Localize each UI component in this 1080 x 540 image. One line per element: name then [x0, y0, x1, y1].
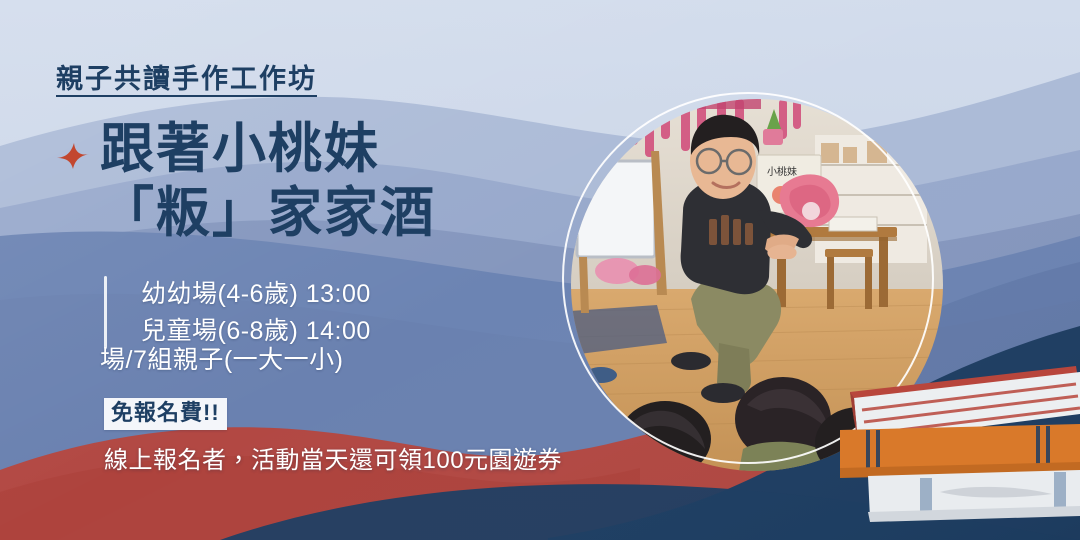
capacity-note: 場/7組親子(一大一小) [100, 340, 344, 376]
sparkle-star-icon [56, 140, 90, 170]
kicker-label: 親子共讀手作工作坊 [56, 66, 317, 93]
poster-canvas: 小桃妹 [0, 0, 1080, 540]
stacked-books-icon [840, 352, 1080, 540]
bonus-note: 線上報名者，活動當天還可領100元園遊券 [104, 440, 562, 475]
vertical-bar-icon [104, 276, 107, 349]
text-column: 親子共讀手作工作坊 跟著小桃妹 「粄」家家酒 幼幼場(4-6歲) 13:00 兒… [0, 0, 600, 540]
free-registration-badge: 免報名費!! [104, 398, 227, 430]
session-list: 幼幼場(4-6歲) 13:00 兒童場(6-8歲) 14:00 [104, 276, 371, 349]
session-lines: 幼幼場(4-6歲) 13:00 兒童場(6-8歲) 14:00 [141, 276, 371, 349]
page-title: 跟著小桃妹 「粄」家家酒 [100, 118, 436, 245]
session-item: 幼幼場(4-6歲) 13:00 [141, 276, 371, 313]
title-line-1: 跟著小桃妹 [100, 119, 380, 179]
title-line-2: 「粄」家家酒 [100, 182, 436, 246]
